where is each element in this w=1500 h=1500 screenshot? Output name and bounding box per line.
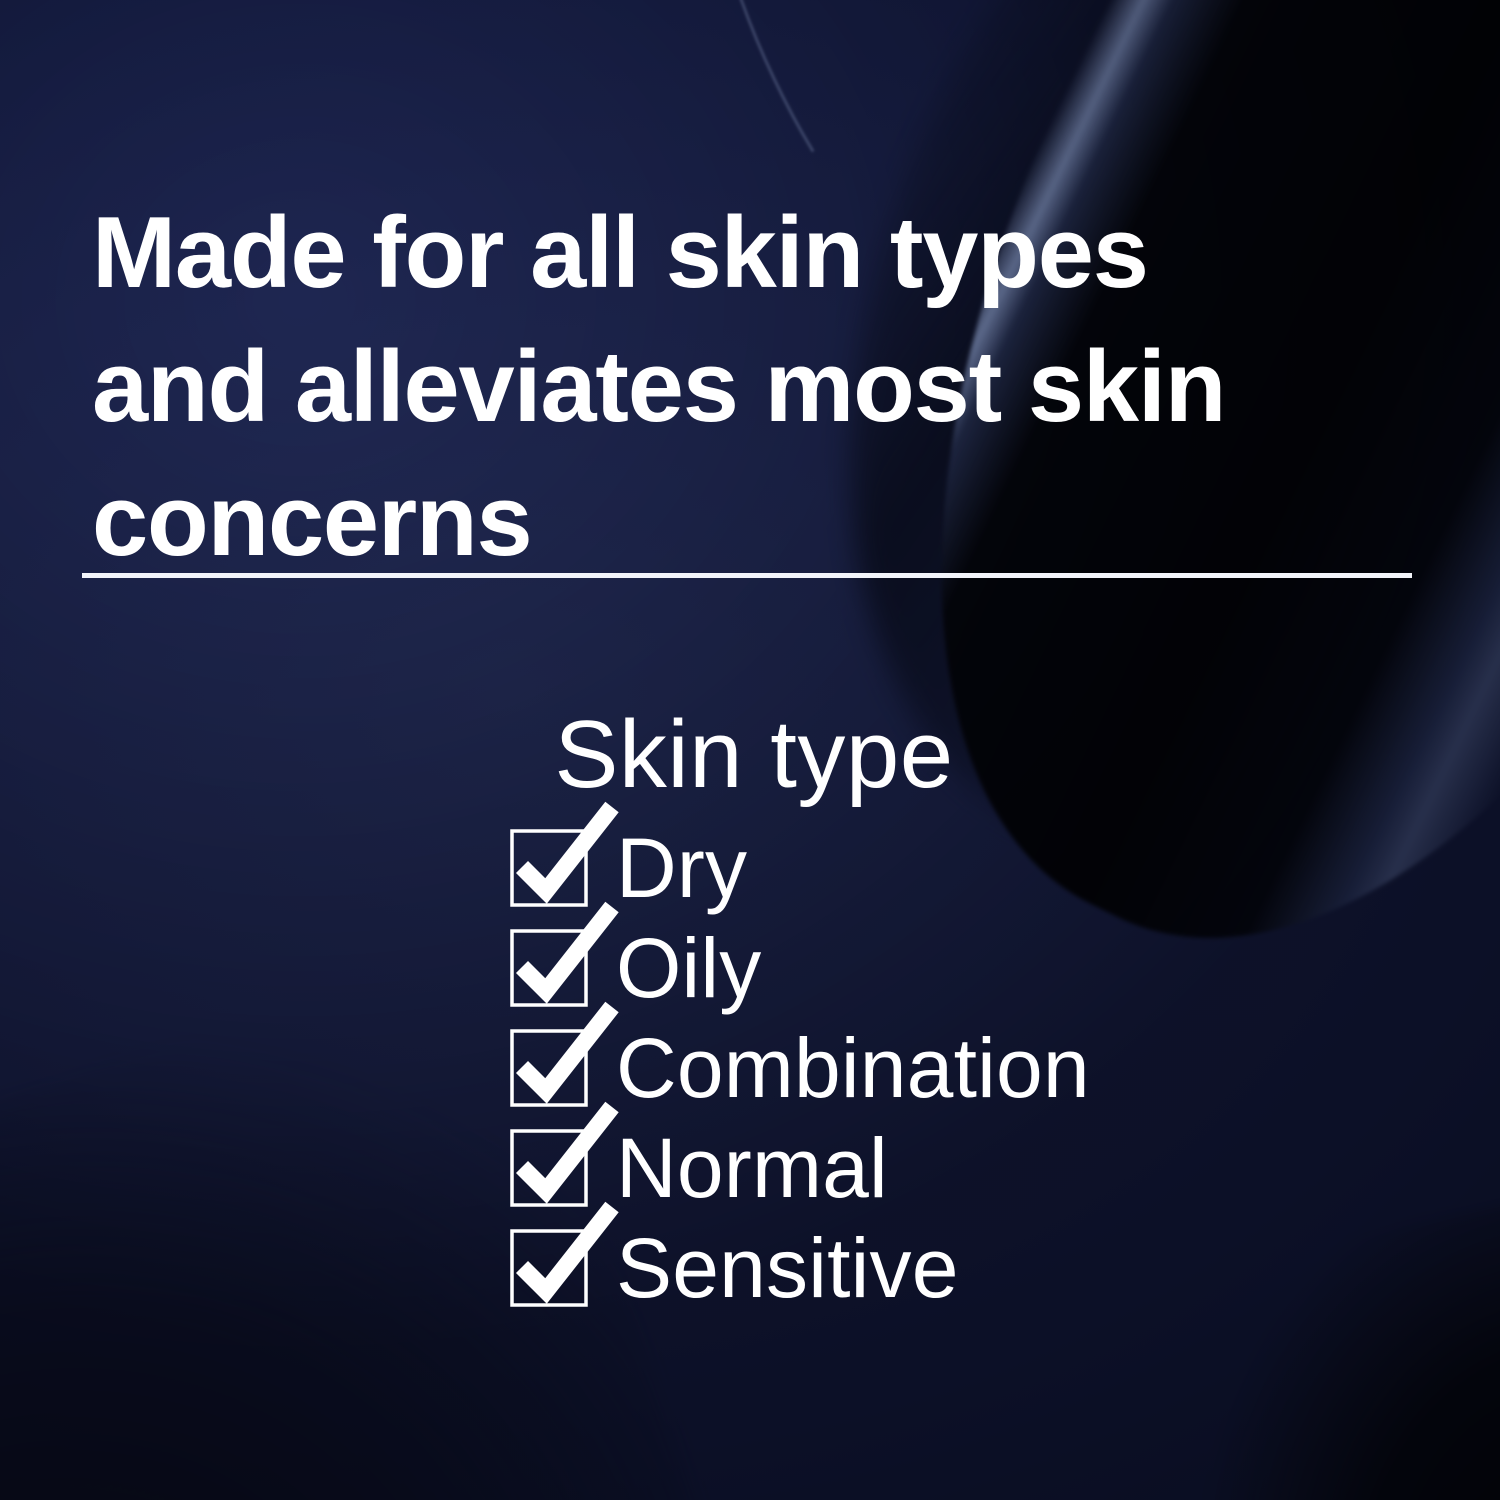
checkbox-checked-icon[interactable]	[512, 1231, 586, 1305]
checkbox-checked-icon[interactable]	[512, 1131, 586, 1205]
list-item-label: Dry	[616, 826, 747, 910]
checkbox-checked-icon[interactable]	[512, 931, 586, 1005]
page-title: Made for all skin types and alleviates m…	[92, 186, 1292, 588]
skin-type-checklist: Dry Oily Combination	[512, 818, 1090, 1318]
promo-banner: Made for all skin types and alleviates m…	[0, 0, 1500, 1500]
checkbox-checked-icon[interactable]	[512, 831, 586, 905]
list-item-label: Oily	[616, 926, 761, 1010]
list-item-label: Normal	[616, 1126, 888, 1210]
checkbox-checked-icon[interactable]	[512, 1031, 586, 1105]
section-divider	[82, 573, 1412, 578]
list-item[interactable]: Sensitive	[512, 1218, 1090, 1318]
list-item-label: Sensitive	[616, 1226, 959, 1310]
list-item-label: Combination	[616, 1026, 1090, 1110]
section-heading-skin-type: Skin type	[0, 700, 1500, 810]
